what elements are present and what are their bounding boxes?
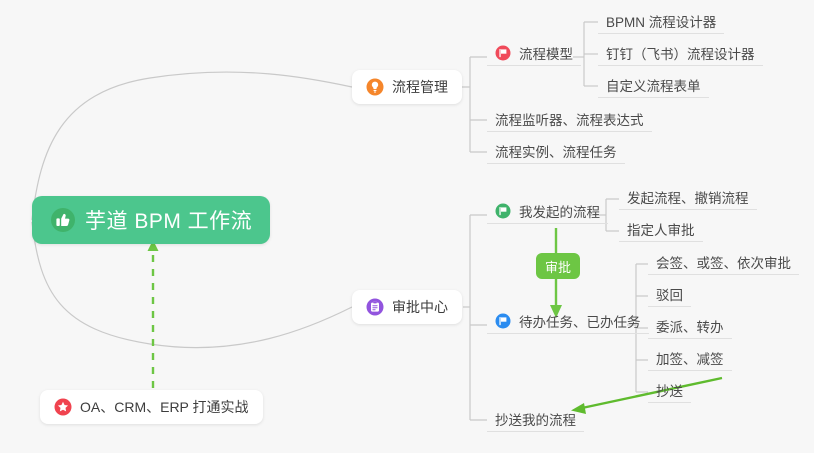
node-chaosong-wode[interactable]: 抄送我的流程 — [487, 408, 584, 432]
node-chaosong-label: 抄送 — [656, 380, 683, 400]
node-wofaqi-label: 我发起的流程 — [519, 201, 600, 221]
bottom-note-card[interactable]: OA、CRM、ERP 打通实战 — [40, 390, 263, 424]
lightbulb-pin-icon — [366, 78, 384, 96]
branch-shenpi-zhongxin[interactable]: 审批中心 — [352, 290, 462, 324]
root-node[interactable]: 芋道 BPM 工作流 — [32, 196, 270, 244]
thumbs-up-icon — [50, 207, 76, 233]
mindmap-canvas: 芋道 BPM 工作流 流程管理 流程模型 BPMN 流程设计器 钉钉（飞书）流程 — [0, 0, 814, 453]
node-chaosong[interactable]: 抄送 — [648, 379, 691, 403]
branch-liucheng-guanli[interactable]: 流程管理 — [352, 70, 462, 104]
node-weipai-label: 委派、转办 — [656, 316, 724, 336]
node-bpmn-label: BPMN 流程设计器 — [606, 11, 716, 31]
node-zidingyi[interactable]: 自定义流程表单 — [598, 74, 709, 98]
root-label: 芋道 BPM 工作流 — [85, 205, 252, 235]
node-liucheng-moxing[interactable]: 流程模型 — [487, 42, 581, 66]
node-bohui-label: 驳回 — [656, 284, 683, 304]
node-jianting[interactable]: 流程监听器、流程表达式 — [487, 108, 652, 132]
approve-tag-label: 审批 — [545, 257, 571, 276]
node-shili-label: 流程实例、流程任务 — [495, 141, 617, 161]
clipboard-icon — [366, 298, 384, 316]
node-jiaqian-label: 加签、减签 — [656, 348, 724, 368]
branch-shenpi-zhongxin-label: 审批中心 — [392, 297, 448, 317]
node-shili[interactable]: 流程实例、流程任务 — [487, 140, 625, 164]
node-dingding-label: 钉钉（飞书）流程设计器 — [606, 43, 755, 63]
node-zhidingren[interactable]: 指定人审批 — [619, 218, 703, 242]
node-liucheng-moxing-label: 流程模型 — [519, 43, 573, 63]
green-arrow-chaosong — [571, 378, 722, 414]
dashed-arrow-oa-to-root — [148, 240, 159, 388]
node-huiqian-label: 会签、或签、依次审批 — [656, 252, 791, 272]
node-zidingyi-label: 自定义流程表单 — [606, 75, 701, 95]
node-weipai[interactable]: 委派、转办 — [648, 315, 732, 339]
node-chaosong-wode-label: 抄送我的流程 — [495, 409, 576, 429]
node-zhidingren-label: 指定人审批 — [627, 219, 695, 239]
approve-tag[interactable]: 审批 — [536, 253, 580, 279]
bottom-note-label: OA、CRM、ERP 打通实战 — [80, 397, 249, 417]
star-icon — [54, 398, 72, 416]
node-faqi[interactable]: 发起流程、撤销流程 — [619, 186, 757, 210]
node-daiban[interactable]: 待办任务、已办任务 — [487, 310, 649, 334]
node-faqi-label: 发起流程、撤销流程 — [627, 187, 749, 207]
node-bpmn[interactable]: BPMN 流程设计器 — [598, 10, 724, 34]
flag-icon — [495, 203, 511, 219]
branch-liucheng-guanli-label: 流程管理 — [392, 77, 448, 97]
node-bohui[interactable]: 驳回 — [648, 283, 691, 307]
flag-icon — [495, 45, 511, 61]
node-huiqian[interactable]: 会签、或签、依次审批 — [648, 251, 799, 275]
flag-icon — [495, 313, 511, 329]
node-jiaqian[interactable]: 加签、减签 — [648, 347, 732, 371]
node-jianting-label: 流程监听器、流程表达式 — [495, 109, 644, 129]
node-dingding[interactable]: 钉钉（飞书）流程设计器 — [598, 42, 763, 66]
node-wofaqi[interactable]: 我发起的流程 — [487, 200, 608, 224]
node-daiban-label: 待办任务、已办任务 — [519, 311, 641, 331]
